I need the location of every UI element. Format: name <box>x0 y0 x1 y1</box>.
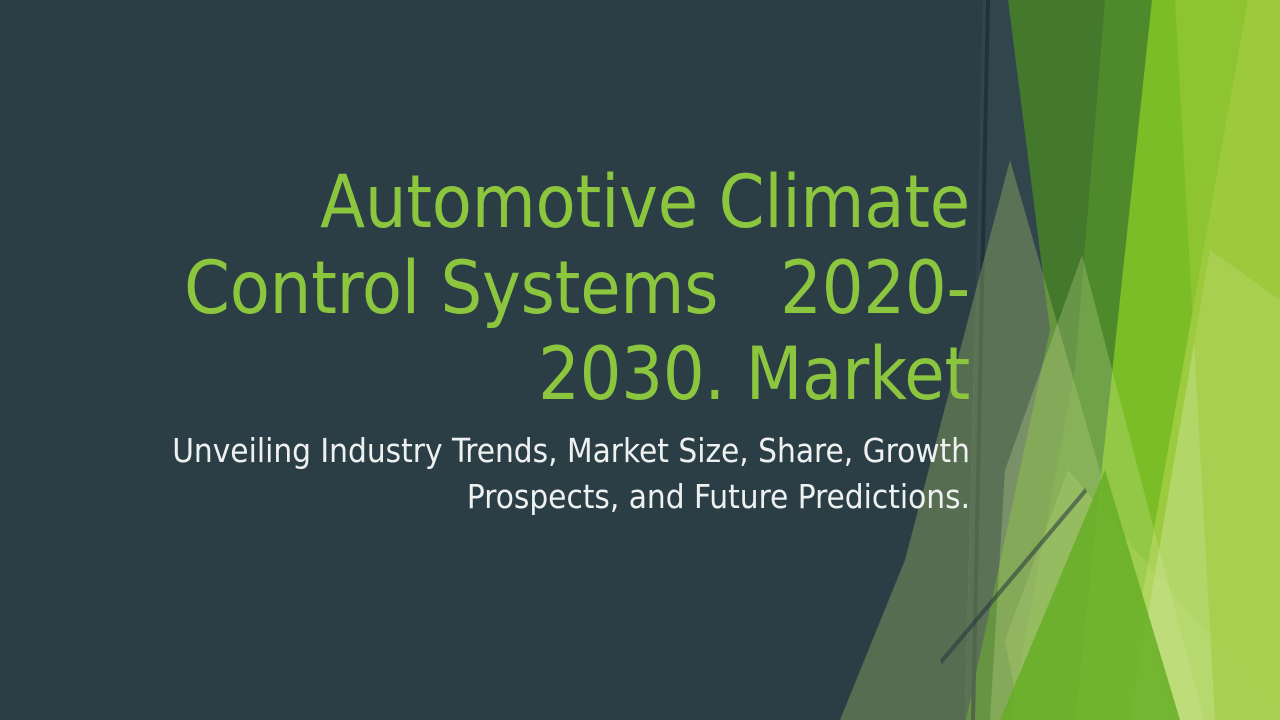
page-subtitle: Unveiling Industry Trends, Market Size, … <box>150 428 970 519</box>
title-placeholder: Automotive Climate Control Systems 2020-… <box>150 160 970 418</box>
page-title: Automotive Climate Control Systems 2020-… <box>150 160 970 418</box>
slide-content: Automotive Climate Control Systems 2020-… <box>0 0 1280 720</box>
subtitle-placeholder: Unveiling Industry Trends, Market Size, … <box>150 428 970 519</box>
title-slide: Automotive Climate Control Systems 2020-… <box>0 0 1280 720</box>
